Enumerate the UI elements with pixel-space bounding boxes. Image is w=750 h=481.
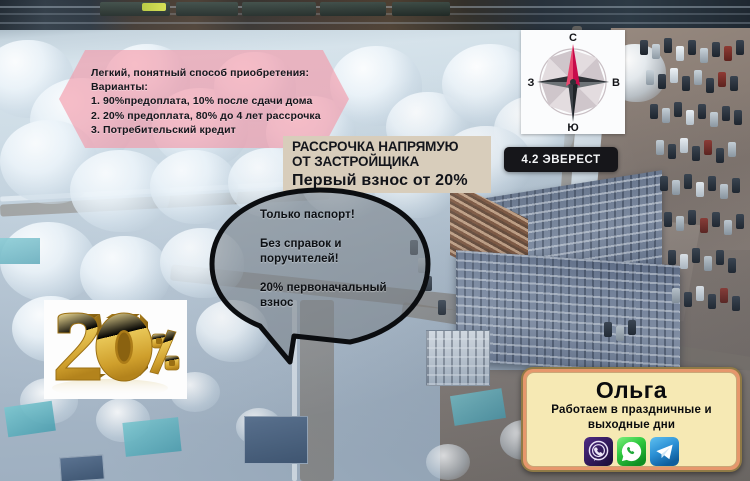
train-car [392,2,450,16]
pink-line-4: 2. 20% предоплата, 80% до 4 лет рассрочк… [91,109,327,123]
bubble-line-5: взнос [260,296,438,311]
schedule-line-1: Работаем в праздничные и [551,403,711,418]
card-border-mid: Ольга Работаем в праздничные и выходные … [523,369,740,470]
compass-south-label: Ю [567,122,578,134]
train-highlight [142,3,166,11]
installment-headline: РАССРОЧКА НАПРЯМУЮ ОТ ЗАСТРОЙЩИКА Первый… [283,136,491,193]
railway-band [0,0,750,30]
card-inner: Ольга Работаем в праздничные и выходные … [526,372,737,467]
low-building [244,416,308,464]
agent-name: Ольга [596,377,667,403]
pool-roof [0,238,40,264]
payment-options-banner: Легкий, понятный способ приобретения: Ва… [59,50,349,148]
pink-line-5: 3. Потребительский кредит [91,123,327,137]
compass-west-label: З [528,77,535,89]
advertisement-canvas: Легкий, понятный способ приобретения: Ва… [0,0,750,481]
telegram-icon[interactable] [650,437,679,466]
low-building [59,454,105,481]
train-car [176,2,238,16]
pool-roof [122,417,181,457]
whatsapp-icon[interactable] [617,437,646,466]
project-label-text: 4.2 ЭВЕРЕСТ [521,154,600,166]
project-label: 4.2 ЭВЕРЕСТ [504,147,618,172]
pink-line-1: Легкий, понятный способ приобретения: [91,66,327,80]
headline-line-2: ОТ ЗАСТРОЙЩИКА [292,155,491,170]
train-car [320,2,386,16]
schedule-line-2: выходные дни [588,418,675,433]
compass-east-label: В [612,77,620,89]
bubble-line-3: поручителей! [260,252,438,267]
bubble-line-4: 20% первоначальный [260,281,438,296]
pink-line-2: Варианты: [91,80,327,94]
agent-contact-card: Ольга Работаем в праздничные и выходные … [521,367,742,472]
train-car [242,2,316,16]
pink-line-3: 1. 90%предоплата, 10% после сдачи дома [91,94,327,108]
headline-line-1: РАССРОЧКА НАПРЯМУЮ [292,140,491,155]
bubble-line-2: Без справок и [260,237,438,252]
compass-north-label: С [569,32,577,44]
requirements-bubble: Только паспорт! Без справок и поручителе… [202,186,438,366]
twenty-percent-graphic [44,300,187,399]
residential-complex [452,186,698,381]
bubble-text-block: Только паспорт! Без справок и поручителе… [260,208,438,311]
bubble-line-1: Только паспорт! [260,208,438,223]
viber-icon[interactable] [584,437,613,466]
compass-rose: С В Ю З [521,30,625,134]
messenger-icons [584,437,679,466]
